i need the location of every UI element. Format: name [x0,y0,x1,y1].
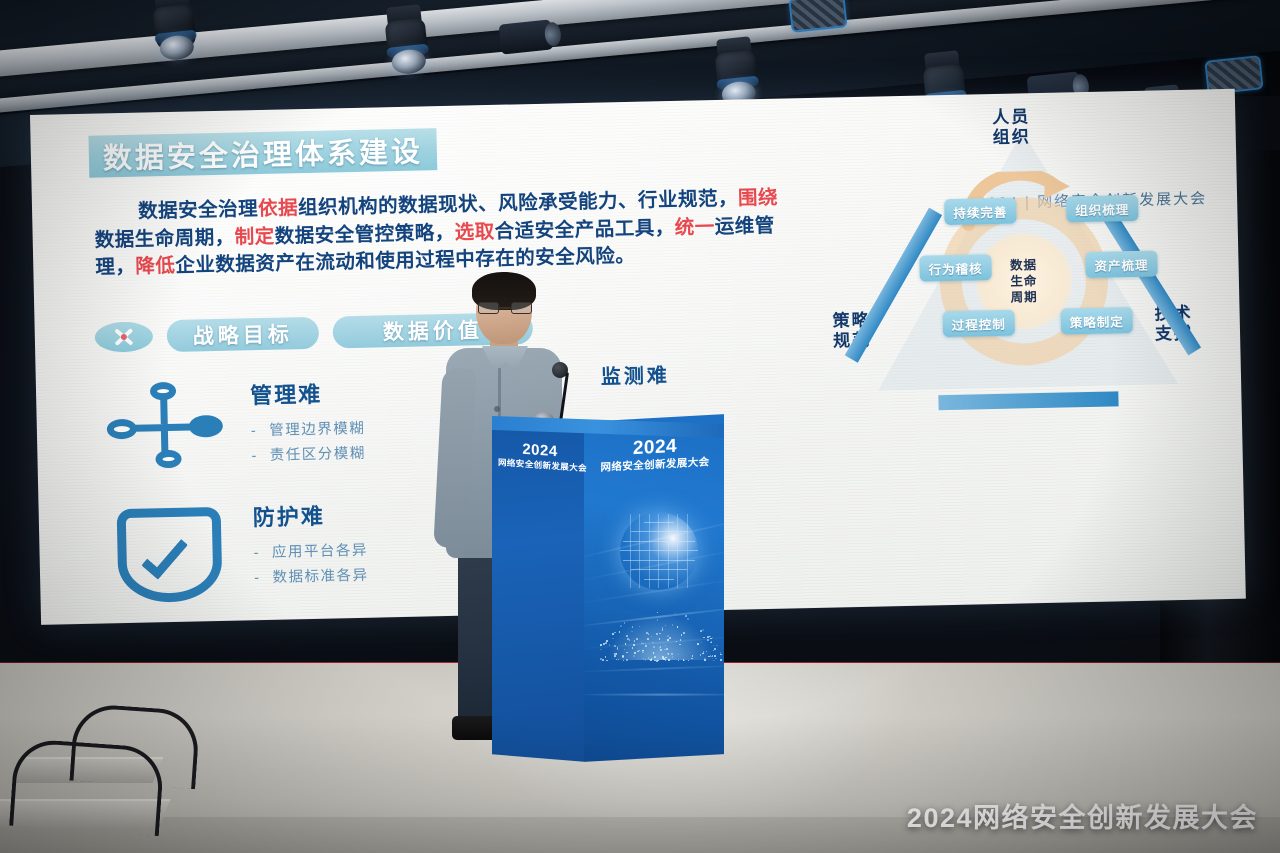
strategy-badge-icon [95,321,154,352]
cycle-chip: 资产梳理 [1085,250,1158,278]
list-item: 应用平台各异 [253,539,368,567]
body-highlight: 统一 [674,216,714,239]
body-highlight: 选取 [454,221,494,244]
podium-label-right: 2024 网络安全创新发展大会 [592,433,718,476]
slide-title-text: 数据安全治理体系建设 [102,128,423,177]
glasses-icon [478,302,532,314]
slide-block-protection: 防护难 应用平台各异 数据标准各异 [108,498,369,612]
slide-title: 数据安全治理体系建设 [88,128,437,178]
body-text: 数据安全治理 [138,198,258,223]
slide-block-management: 管理难 管理边界模糊 责任区分模糊 [106,376,366,478]
body-text: 组织机构的数据现状、风险承受能力、行业规范， [298,188,738,220]
body-highlight: 降低 [135,255,175,278]
body-highlight: 依据 [258,197,298,220]
protection-bullets: 应用平台各异 数据标准各异 [253,539,368,592]
cycle-chip: 组织梳理 [1066,195,1139,223]
shield-check-icon [108,501,230,612]
body-text: 企业数据资产在流动和使用过程中存在的安全风险。 [175,245,635,277]
cycle-chip: 持续完善 [944,198,1017,226]
list-item: 管理边界模糊 [251,417,366,445]
event-watermark: 2024网络安全创新发展大会 [907,796,1258,835]
moving-head-spotlight-icon [150,0,199,66]
list-item: 数据标准各异 [254,564,369,592]
conference-stage-scene: 数据安全治理体系建设 2024 | 网络安全创新发展大会 数据安全治理依据组织机… [0,0,1280,853]
podium-label-left: 2024 网络安全创新发展大会 [498,439,582,474]
body-highlight: 制定 [234,225,274,248]
list-item: 责任区分模糊 [251,442,366,470]
body-text: 数据安全管控策略， [274,221,454,247]
particle-wave-graphic [600,608,720,660]
network-nodes-icon [106,379,228,478]
pill-strategy-goal: 战略目标 [167,317,320,352]
slide-mid-label: 监测难 [600,359,670,389]
body-text: 数据生命周期， [95,226,235,251]
stage-stairs [0,707,250,853]
moving-head-spotlight-icon [382,4,431,80]
management-heading: 管理难 [250,376,365,410]
podium: 2024 网络安全创新发展大会 2024 网络安全创新发展大会 [492,420,724,765]
cycle-chip: 行为稽核 [919,254,992,282]
par-can-light-icon [499,19,554,54]
body-text: 合适安全产品工具， [494,217,674,243]
corner-label-people: 人员 组织 [992,107,1031,148]
cycle-chip: 过程控制 [942,310,1015,338]
management-text: 管理难 管理边界模糊 责任区分模糊 [250,376,366,470]
shirt-button [494,406,500,412]
cycle-chip: 策略制定 [1060,307,1133,335]
podium-left-face [492,424,584,761]
arrow-bottom-icon [938,391,1118,410]
protection-heading: 防护难 [252,498,367,532]
governance-triangle-diagram: 人员 组织 策略 规范 技术 支撑 [820,97,1229,526]
stair-handrail [9,738,165,836]
globe-network-icon [620,512,698,590]
slide-body-paragraph: 数据安全治理依据组织机构的数据现状、风险承受能力、行业规范，围绕数据生命周期，制… [94,185,786,283]
management-bullets: 管理边界模糊 责任区分模糊 [251,417,366,470]
protection-text: 防护难 应用平台各异 数据标准各异 [252,498,368,592]
body-highlight: 围绕 [738,187,778,210]
led-grid-light-icon [788,0,847,33]
